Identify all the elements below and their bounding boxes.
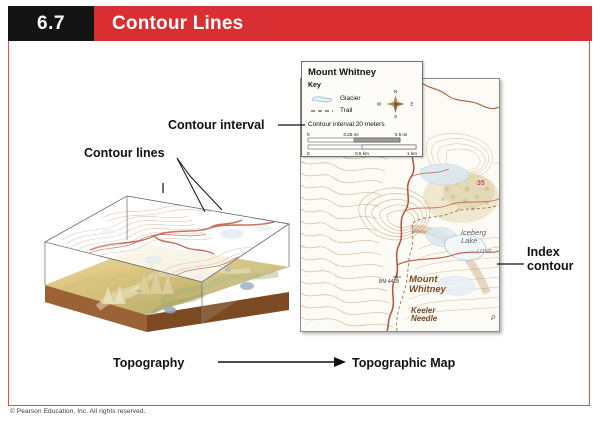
trail-dashed-line-icon (310, 107, 334, 115)
compass-e: E (410, 102, 413, 107)
label-contour-lines: Contour lines (84, 146, 165, 160)
scale-km-end: 1 km (407, 151, 417, 156)
section-number: 6.7 (37, 13, 65, 35)
caption-topographic-map: Topographic Map (352, 356, 455, 370)
compass-rose-icon: N E S W (374, 87, 418, 119)
section-number-box: 6.7 (8, 6, 94, 41)
scale-km-start: 0 (307, 151, 310, 156)
key-title: Mount Whitney (308, 67, 376, 78)
scale-miles-mid: 0.25 mi (343, 132, 358, 137)
key-legend-label-glacier: Glacier (340, 95, 361, 102)
compass-w: W (377, 102, 382, 107)
label-index-contour: Index contour (527, 245, 574, 273)
scale-km-mid: 0.5 km (355, 151, 369, 156)
compass-n: N (394, 89, 397, 94)
label-index-contour-line1: Index (527, 245, 574, 259)
section-title-bar: Contour Lines (94, 6, 592, 41)
glacier-icon (310, 95, 334, 103)
label-index-contour-line2: contour (527, 259, 574, 273)
copyright-notice: © Pearson Education, Inc. All rights res… (10, 408, 145, 415)
block-diagram (42, 182, 292, 337)
scale-bar: 0 0.25 mi 0.5 mi 0 0.5 km 1 km (307, 132, 419, 156)
key-contour-interval-note: Contour interval 20 meters (308, 121, 385, 128)
caption-topography: Topography (113, 356, 184, 370)
slide-header: 6.7 Contour Lines (8, 6, 592, 41)
compass-s: S (394, 114, 397, 119)
key-legend-label-trail: Trail (340, 107, 352, 114)
scale-miles-start: 0 (307, 132, 310, 137)
page-title: Contour Lines (112, 13, 243, 35)
slide-root: 6.7 Contour Lines (0, 0, 600, 422)
label-contour-interval: Contour interval (168, 118, 265, 132)
scale-miles-end: 0.5 mi (395, 132, 408, 137)
map-key-box: Mount Whitney Key Glacier Trail Contour … (301, 61, 423, 157)
block-diagram-svg (42, 182, 292, 337)
key-subtitle: Key (308, 82, 321, 89)
